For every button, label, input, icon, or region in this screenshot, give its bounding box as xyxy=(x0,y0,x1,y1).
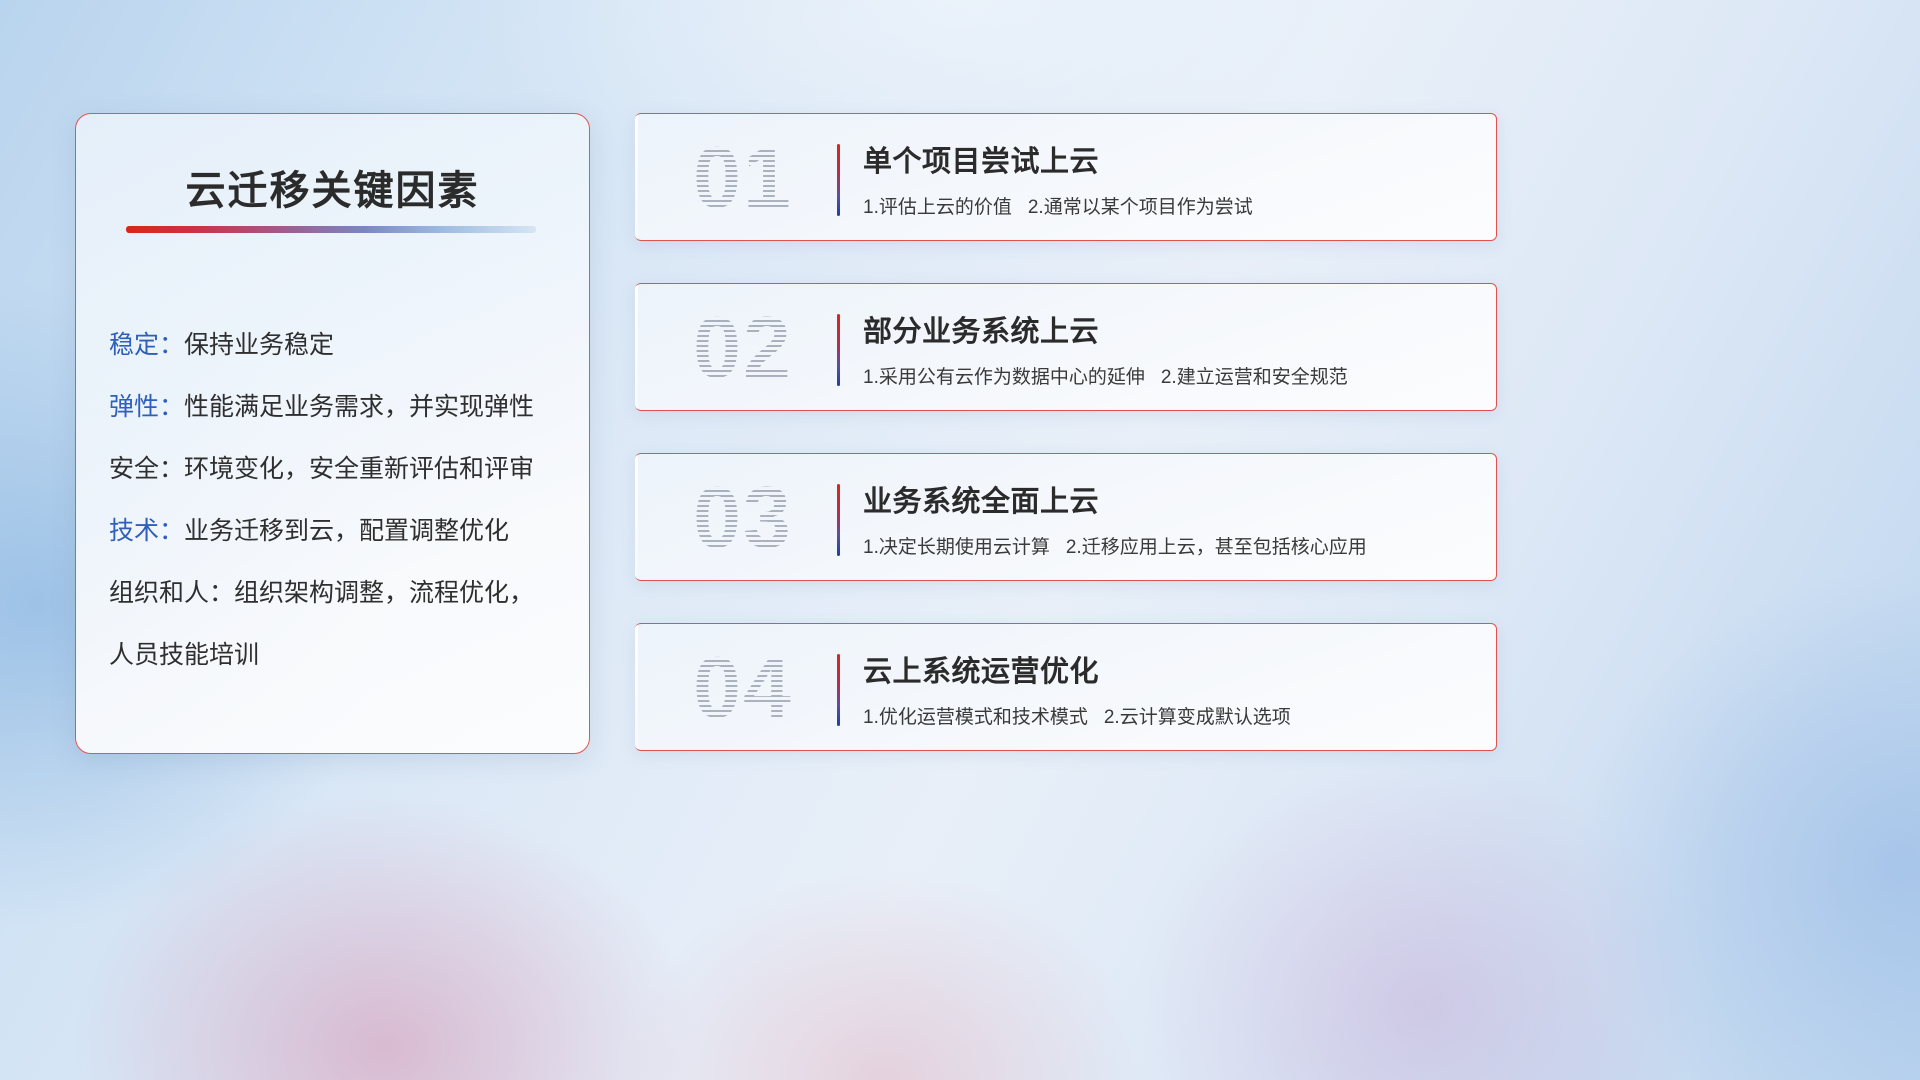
key-factor-label: 组织和人： xyxy=(109,573,234,609)
stage-number-watermark: 03 xyxy=(663,470,823,566)
stage-accent-bar xyxy=(837,144,840,216)
key-factor-label: 弹性： xyxy=(109,387,184,423)
page-title: 云迁移关键因素 xyxy=(76,158,589,216)
stage-accent-bar xyxy=(837,314,840,386)
stage-point: 2.建立运营和安全规范 xyxy=(1161,367,1348,388)
key-factor-row: 技术：业务迁移到云，配置调整优化 xyxy=(109,498,565,560)
key-factor-label: 技术： xyxy=(109,511,184,547)
stage-point: 1.采用公有云作为数据中心的延伸 xyxy=(863,367,1145,388)
stage-point: 1.决定长期使用云计算 xyxy=(863,537,1050,558)
key-factor-row: 安全：环境变化，安全重新评估和评审 xyxy=(109,436,565,498)
stage-title: 单个项目尝试上云 xyxy=(863,138,1099,180)
stage-point: 2.通常以某个项目作为尝试 xyxy=(1028,197,1253,218)
stage-title: 云上系统运营优化 xyxy=(863,648,1099,690)
stage-card[interactable]: 02部分业务系统上云1.采用公有云作为数据中心的延伸2.建立运营和安全规范 xyxy=(635,283,1497,411)
stage-description: 1.优化运营模式和技术模式2.云计算变成默认选项 xyxy=(863,702,1291,729)
title-underline-accent xyxy=(126,226,536,233)
stage-description: 1.采用公有云作为数据中心的延伸2.建立运营和安全规范 xyxy=(863,362,1348,389)
stage-description: 1.评估上云的价值2.通常以某个项目作为尝试 xyxy=(863,192,1253,219)
key-factor-label: 稳定： xyxy=(109,325,184,361)
key-factor-row: 组织和人：组织架构调整，流程优化， xyxy=(109,560,565,622)
stage-card[interactable]: 03业务系统全面上云1.决定长期使用云计算2.迁移应用上云，甚至包括核心应用 xyxy=(635,453,1497,581)
stage-point: 1.评估上云的价值 xyxy=(863,197,1012,218)
key-factor-value: 性能满足业务需求，并实现弹性 xyxy=(184,387,534,423)
stage-card[interactable]: 04云上系统运营优化1.优化运营模式和技术模式2.云计算变成默认选项 xyxy=(635,623,1497,751)
stage-number-watermark: 01 xyxy=(663,130,823,226)
key-factor-value: 人员技能培训 xyxy=(109,635,259,671)
stage-title: 部分业务系统上云 xyxy=(863,308,1099,350)
stage-number-watermark: 02 xyxy=(663,300,823,396)
key-factor-row: 人员技能培训 xyxy=(109,622,565,684)
key-factor-value: 组织架构调整，流程优化， xyxy=(234,573,534,609)
key-factor-row: 弹性：性能满足业务需求，并实现弹性 xyxy=(109,374,565,436)
stage-description: 1.决定长期使用云计算2.迁移应用上云，甚至包括核心应用 xyxy=(863,532,1367,559)
stage-accent-bar xyxy=(837,484,840,556)
stage-accent-bar xyxy=(837,654,840,726)
key-factor-value: 保持业务稳定 xyxy=(184,325,334,361)
key-factor-row: 稳定：保持业务稳定 xyxy=(109,312,565,374)
key-factor-label: 安全： xyxy=(109,449,184,485)
key-factor-value: 环境变化，安全重新评估和评审 xyxy=(184,449,534,485)
stage-point: 1.优化运营模式和技术模式 xyxy=(863,707,1088,728)
key-factor-value: 业务迁移到云，配置调整优化 xyxy=(184,511,509,547)
stage-title: 业务系统全面上云 xyxy=(863,478,1099,520)
key-factors-list: 稳定：保持业务稳定弹性：性能满足业务需求，并实现弹性安全：环境变化，安全重新评估… xyxy=(109,312,565,684)
stage-number-watermark: 04 xyxy=(663,640,823,736)
key-factors-panel: 云迁移关键因素 稳定：保持业务稳定弹性：性能满足业务需求，并实现弹性安全：环境变… xyxy=(75,113,590,754)
stage-point: 2.迁移应用上云，甚至包括核心应用 xyxy=(1066,537,1367,558)
stage-card[interactable]: 01单个项目尝试上云1.评估上云的价值2.通常以某个项目作为尝试 xyxy=(635,113,1497,241)
stage-card-list: 01单个项目尝试上云1.评估上云的价值2.通常以某个项目作为尝试02部分业务系统… xyxy=(635,113,1497,793)
stage-point: 2.云计算变成默认选项 xyxy=(1104,707,1291,728)
